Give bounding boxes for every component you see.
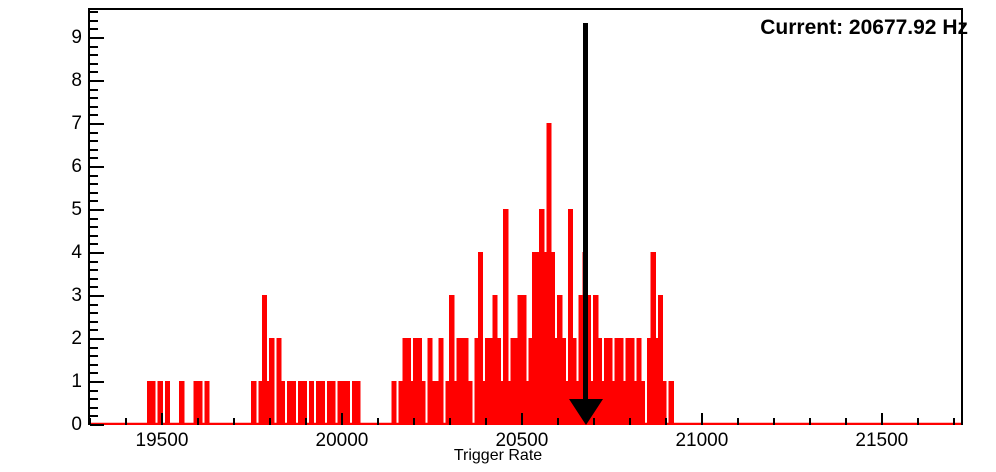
y-axis-label: 9 (48, 28, 82, 47)
y-axis-tick-minor (90, 235, 98, 237)
y-axis-tick-minor (90, 89, 98, 91)
y-axis-label: 7 (48, 114, 82, 133)
y-axis-tick-minor (90, 28, 98, 30)
current-rate-readout: Current: 20677.92 Hz (760, 16, 968, 40)
y-axis-tick-minor (90, 149, 98, 151)
y-axis-tick-major (90, 37, 104, 39)
y-axis-tick-minor (90, 71, 98, 73)
y-axis-label: 2 (48, 329, 82, 348)
y-axis-tick-minor (90, 114, 98, 116)
x-axis-tick-minor (665, 418, 667, 425)
y-axis-tick-minor (90, 11, 98, 13)
y-axis-tick-minor (90, 175, 98, 177)
x-axis-tick-minor (773, 418, 775, 425)
y-axis-tick-major (90, 166, 104, 168)
y-axis-tick-minor (90, 269, 98, 271)
y-axis-tick-minor (90, 312, 98, 314)
x-axis-tick-major (161, 413, 163, 425)
y-axis-tick-minor (90, 200, 98, 202)
y-axis-tick-minor (90, 20, 98, 22)
histogram-outline (90, 124, 961, 425)
y-axis-tick-minor (90, 183, 98, 185)
y-axis-label: 4 (48, 243, 82, 262)
marker-shaft (583, 23, 588, 401)
x-axis-tick-minor (449, 418, 451, 425)
x-axis-tick-major (521, 413, 523, 425)
y-axis-tick-major (90, 424, 104, 426)
x-axis-tick-minor (305, 418, 307, 425)
x-axis-tick-minor (737, 418, 739, 425)
y-axis-tick-minor (90, 321, 98, 323)
x-axis-tick-minor (377, 418, 379, 425)
marker-arrowhead-icon (569, 399, 603, 425)
y-axis-label: 3 (48, 286, 82, 305)
y-axis-tick-minor (90, 226, 98, 228)
y-axis-tick-major (90, 295, 104, 297)
x-axis-tick-minor (917, 418, 919, 425)
y-axis-tick-minor (90, 97, 98, 99)
y-axis-tick-minor (90, 286, 98, 288)
x-axis-tick-minor (809, 418, 811, 425)
x-axis-tick-minor (197, 418, 199, 425)
y-axis-tick-major (90, 209, 104, 211)
y-axis-tick-minor (90, 390, 98, 392)
x-axis-tick-minor (125, 418, 127, 425)
y-axis-tick-major (90, 252, 104, 254)
x-axis-tick-minor (413, 418, 415, 425)
y-axis-tick-minor (90, 54, 98, 56)
y-axis-label: 6 (48, 157, 82, 176)
y-axis-tick-minor (90, 347, 98, 349)
y-axis-tick-minor (90, 46, 98, 48)
y-axis-tick-minor (90, 63, 98, 65)
x-axis-tick-minor (845, 418, 847, 425)
y-axis-tick-minor (90, 243, 98, 245)
x-axis-tick-minor (233, 418, 235, 425)
y-axis-tick-major (90, 80, 104, 82)
y-axis-tick-minor (90, 157, 98, 159)
y-axis-tick-minor (90, 278, 98, 280)
x-axis-tick-major (701, 413, 703, 425)
x-axis-tick-major (341, 413, 343, 425)
x-axis-tick-major (881, 413, 883, 425)
y-axis-tick-minor (90, 329, 98, 331)
histogram-series (90, 10, 961, 425)
x-axis-tick-minor (89, 418, 91, 425)
y-axis-tick-minor (90, 372, 98, 374)
x-axis-tick-minor (629, 418, 631, 425)
x-axis-tick-minor (557, 418, 559, 425)
x-axis-title: Trigger Rate (0, 447, 996, 465)
plot-area (90, 10, 961, 425)
y-axis-tick-minor (90, 364, 98, 366)
y-axis-tick-major (90, 338, 104, 340)
y-axis-tick-minor (90, 106, 98, 108)
x-axis-tick-minor (269, 418, 271, 425)
y-axis-label: 8 (48, 71, 82, 90)
y-axis-tick-minor (90, 261, 98, 263)
y-axis-tick-minor (90, 415, 98, 417)
y-axis-tick-minor (90, 355, 98, 357)
y-axis-tick-major (90, 381, 104, 383)
y-axis-tick-major (90, 123, 104, 125)
y-axis-tick-minor (90, 398, 98, 400)
histogram-canvas: 0123456789 1950020000205002100021500 Tri… (0, 0, 996, 472)
y-axis-tick-minor (90, 218, 98, 220)
x-axis-tick-minor (485, 418, 487, 425)
y-axis-tick-minor (90, 304, 98, 306)
y-axis-label: 1 (48, 372, 82, 391)
y-axis-tick-minor (90, 192, 98, 194)
y-axis-label: 0 (48, 415, 82, 434)
y-axis-tick-minor (90, 407, 98, 409)
y-axis-tick-minor (90, 132, 98, 134)
y-axis-tick-minor (90, 140, 98, 142)
x-axis-tick-minor (953, 418, 955, 425)
y-axis-label: 5 (48, 200, 82, 219)
